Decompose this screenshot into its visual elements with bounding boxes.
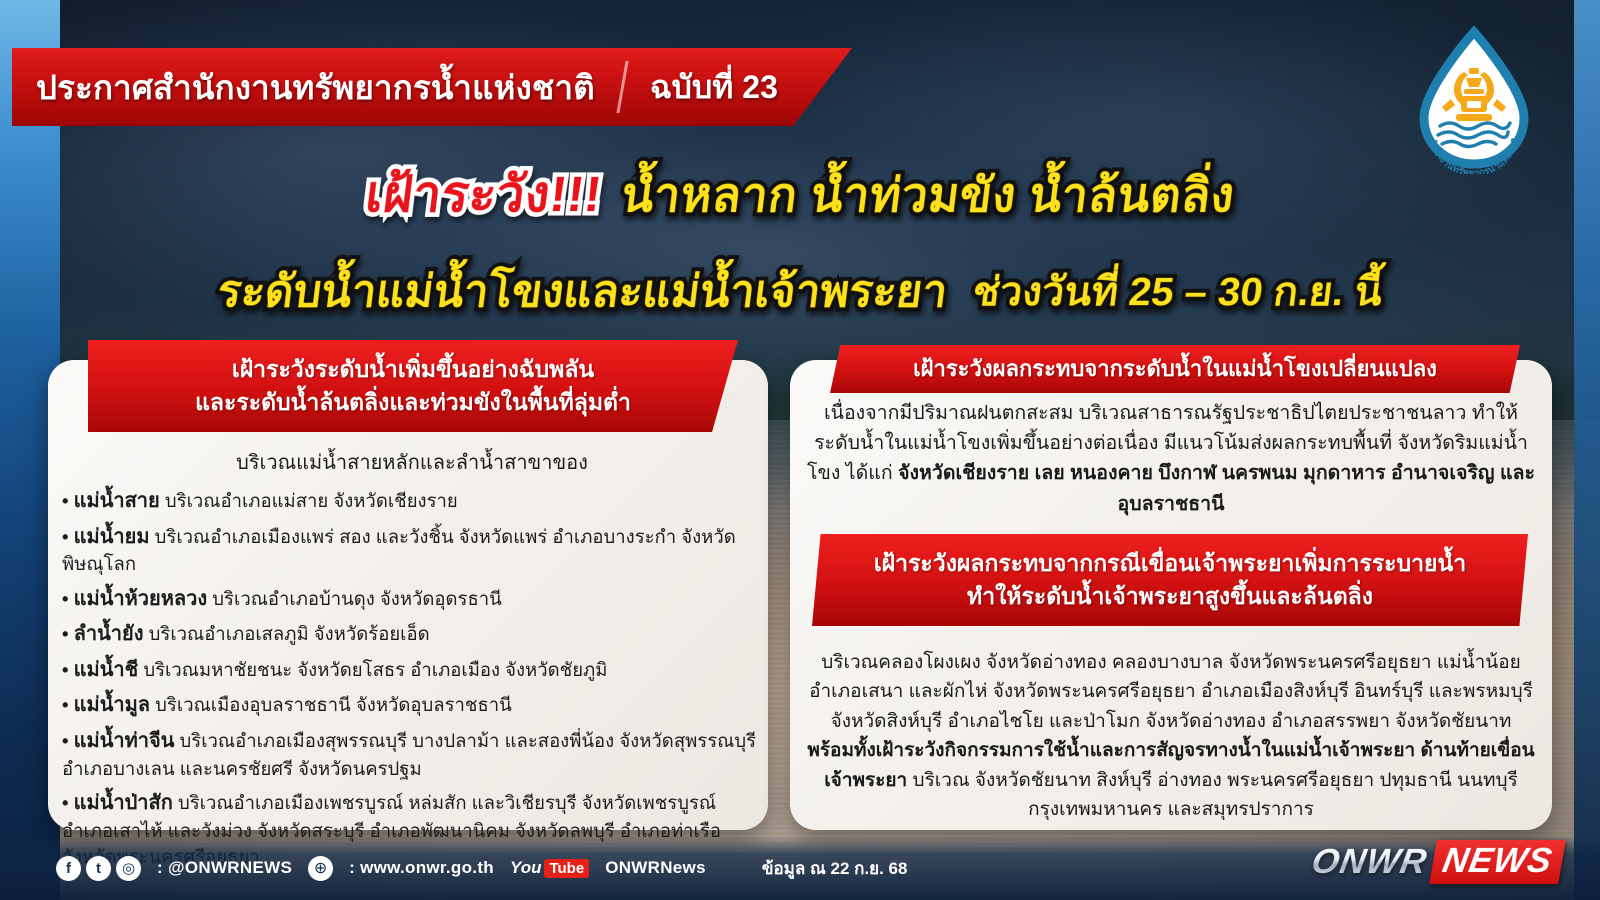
- right-ribbon-2-line-2: ทำให้ระดับน้ำเจ้าพระยาสูงขึ้นและล้นตลิ่ง: [967, 580, 1373, 613]
- chaophraya-text-normal-2: บริเวณ จังหวัดชัยนาท สิงห์บุรี อ่างทอง พ…: [907, 770, 1518, 820]
- right-panel-ribbon-header-mekong: เฝ้าระวังผลกระทบจากระดับน้ำในแม่น้ำโขงเป…: [830, 345, 1520, 393]
- river-detail: บริเวณอำเภอเมืองแพร่ สอง และวังชิ้น จังห…: [62, 526, 736, 575]
- river-name: ลำน้ำยัง: [74, 623, 144, 645]
- announcement-banner: ประกาศสำนักงานทรัพยากรน้ำแห่งชาติ ฉบับที…: [12, 48, 852, 126]
- bullet-icon: •: [62, 730, 74, 751]
- river-detail: บริเวณเมืองอุบลราชธานี จังหวัดอุบลราชธาน…: [150, 694, 512, 715]
- left-panel-lead-text: บริเวณแม่น้ำสายหลักและลำน้ำสาขาของ: [62, 446, 762, 478]
- river-list-item: • แม่น้ำมูล บริเวณเมืองอุบลราชธานี จังหว…: [62, 691, 762, 720]
- river-detail: บริเวณอำเภอบ้านดุง จังหวัดอุดรธานี: [207, 588, 502, 609]
- data-date-text: ข้อมูล ณ 22 ก.ย. 68: [762, 855, 908, 882]
- mekong-provinces-bold: จังหวัดเชียงราย เลย หนองคาย บึงกาฬ นครพน…: [898, 462, 1535, 514]
- headline-subject: ระดับน้ำแม่น้ำโขงและแม่น้ำเจ้าพระยา: [213, 256, 951, 326]
- river-name: แม่น้ำห้วยหลวง: [74, 588, 208, 610]
- mekong-impact-text: เนื่องจากมีปริมาณฝนตกสะสม บริเวณสาธารณรั…: [806, 398, 1536, 519]
- right-blue-edge-strip: [1574, 0, 1600, 900]
- right-panel-ribbon-header-chaophraya: เฝ้าระวังผลกระทบจากกรณีเขื่อนเจ้าพระยาเพ…: [812, 534, 1528, 626]
- chaophraya-impact-text: บริเวณคลองโผงเผง จังหวัดอ่างทอง คลองบางบ…: [806, 648, 1536, 825]
- river-watch-list: • แม่น้ำสาย บริเวณอำเภอแม่สาย จังหวัดเชี…: [62, 487, 762, 871]
- river-name: แม่น้ำป่าสัก: [74, 792, 173, 814]
- right-ribbon-1-text: เฝ้าระวังผลกระทบจากระดับน้ำในแม่น้ำโขงเป…: [913, 355, 1437, 384]
- twitter-icon[interactable]: t: [86, 856, 111, 881]
- youtube-you-text: You: [510, 858, 541, 878]
- left-ribbon-line-2: และระดับน้ำล้นตลิ่งและท่วมขังในพื้นที่ลุ…: [195, 386, 631, 419]
- onwr-water-drop-emblem: สำนักงานทรัพยากรน้ำแห่งชาติ: [1406, 26, 1542, 174]
- bullet-icon: •: [62, 588, 74, 609]
- river-name: แม่น้ำยม: [74, 526, 150, 548]
- river-list-item: • ลำน้ำยัง บริเวณอำเภอเสลภูมิ จังหวัดร้อ…: [62, 620, 762, 649]
- infographic-stage: ประกาศสำนักงานทรัพยากรน้ำแห่งชาติ ฉบับที…: [0, 0, 1600, 900]
- bullet-icon: •: [62, 694, 74, 715]
- river-list-item: • แม่น้ำชี บริเวณมหาชัยชนะ จังหวัดยโสธร …: [62, 656, 762, 685]
- chaophraya-text-normal-1: บริเวณคลองโผงเผง จังหวัดอ่างทอง คลองบางบ…: [809, 652, 1533, 732]
- river-list-item: • แม่น้ำยม บริเวณอำเภอเมืองแพร่ สอง และว…: [62, 523, 762, 578]
- river-detail: บริเวณมหาชัยชนะ จังหวัดยโสธร อำเภอเมือง …: [138, 659, 607, 680]
- left-panel-ribbon-header: เฝ้าระวังระดับน้ำเพิ่มขึ้นอย่างฉับพลัน แ…: [88, 340, 738, 432]
- bullet-icon: •: [62, 659, 74, 680]
- headline-date-range: ช่วงวันที่ 25 – 30 ก.ย. นี้: [969, 259, 1386, 323]
- website-text[interactable]: : www.onwr.go.th: [349, 858, 494, 878]
- river-list-item: • แม่น้ำห้วยหลวง บริเวณอำเภอบ้านดุง จังห…: [62, 585, 762, 614]
- river-detail: บริเวณอำเภอเสลภูมิ จังหวัดร้อยเอ็ด: [144, 623, 430, 644]
- left-panel-body: บริเวณแม่น้ำสายหลักและลำน้ำสาขาของ • แม่…: [62, 446, 762, 878]
- river-name: แม่น้ำท่าจีน: [74, 730, 175, 752]
- facebook-icon[interactable]: f: [56, 856, 81, 881]
- bullet-icon: •: [62, 792, 74, 813]
- banner-title: ประกาศสำนักงานทรัพยากรน้ำแห่งชาติ: [36, 61, 595, 114]
- issue-number: ฉบับที่ 23: [650, 62, 778, 113]
- river-detail: บริเวณอำเภอแม่สาย จังหวัดเชียงราย: [160, 490, 458, 511]
- globe-icon[interactable]: ⊕: [308, 856, 333, 881]
- bullet-icon: •: [62, 623, 74, 644]
- youtube-channel-text: ONWRNews: [605, 858, 706, 878]
- instagram-icon[interactable]: ◎: [116, 856, 141, 881]
- bullet-icon: •: [62, 526, 74, 547]
- river-name: แม่น้ำสาย: [74, 490, 160, 512]
- left-ribbon-line-1: เฝ้าระวังระดับน้ำเพิ่มขึ้นอย่างฉับพลัน: [232, 353, 594, 386]
- onwr-news-logo: ONWR NEWS: [1308, 840, 1566, 884]
- social-handle-text: : @ONWRNEWS: [157, 858, 292, 878]
- youtube-tube-text: Tube: [544, 859, 589, 878]
- headline-hazards: น้ำหลาก น้ำท่วมขัง น้ำล้นตลิ่ง: [617, 157, 1239, 232]
- river-list-item: • แม่น้ำท่าจีน บริเวณอำเภอเมืองสุพรรณบุร…: [62, 727, 762, 782]
- onwr-news-brand-main: ONWR: [1309, 842, 1437, 882]
- banner-divider: [616, 61, 628, 113]
- youtube-icon[interactable]: You Tube: [510, 858, 589, 878]
- social-icon-group: f t ◎: [56, 856, 141, 881]
- headline-alert: เฝ้าระวัง!!!: [361, 155, 606, 234]
- river-name: แม่น้ำชี: [74, 659, 139, 681]
- bullet-icon: •: [62, 490, 74, 511]
- river-name: แม่น้ำมูล: [74, 694, 150, 716]
- river-list-item: • แม่น้ำสาย บริเวณอำเภอแม่สาย จังหวัดเชี…: [62, 487, 762, 516]
- onwr-news-brand-accent: NEWS: [1429, 840, 1566, 884]
- headline-block: เฝ้าระวัง!!! น้ำหลาก น้ำท่วมขัง น้ำล้นตล…: [0, 155, 1600, 326]
- right-ribbon-2-line-1: เฝ้าระวังผลกระทบจากกรณีเขื่อนเจ้าพระยาเพ…: [874, 547, 1466, 580]
